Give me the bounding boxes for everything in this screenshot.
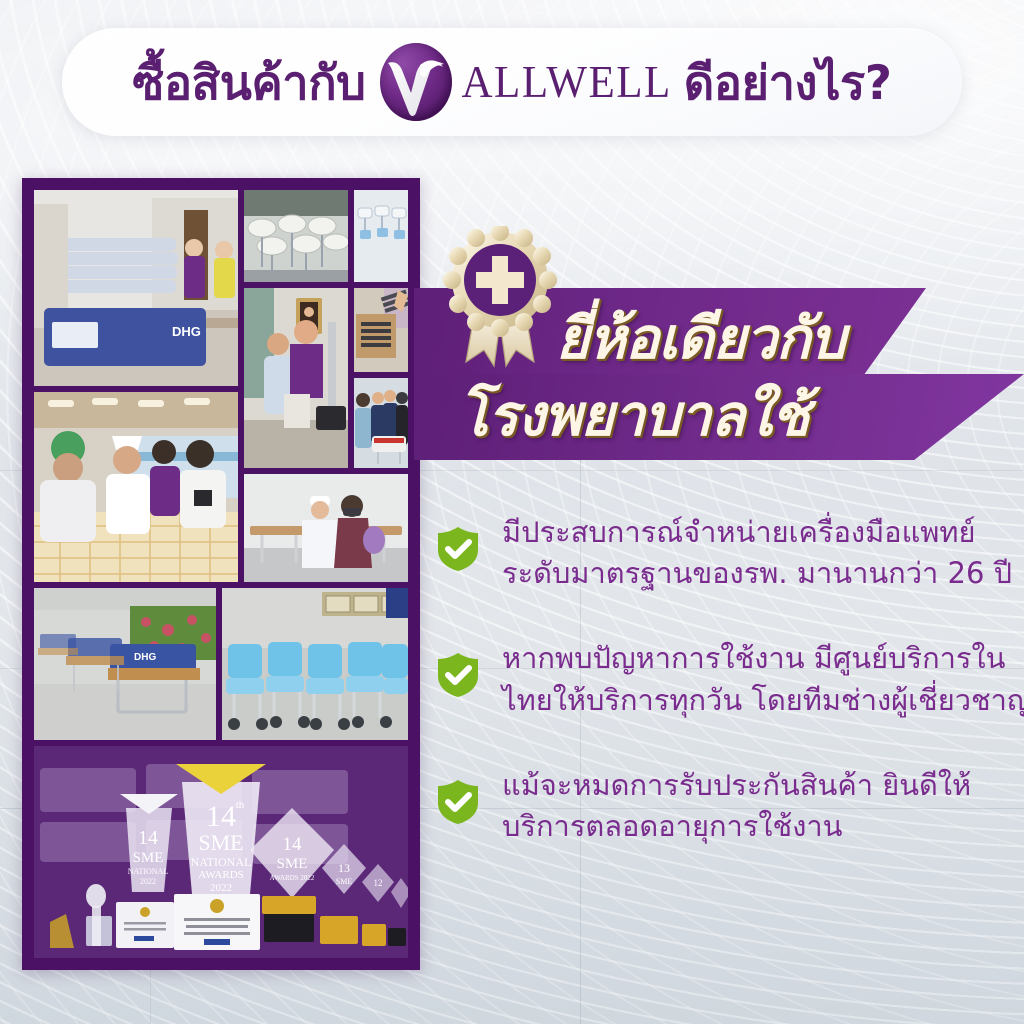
shield-check-icon bbox=[436, 779, 480, 825]
svg-text:DHG: DHG bbox=[134, 652, 156, 663]
svg-text:14: 14 bbox=[138, 827, 158, 849]
photo-bed-row-outdoor: DHG bbox=[34, 588, 216, 740]
logo-w-glyph bbox=[380, 43, 452, 121]
photo-collage: DHG bbox=[22, 178, 420, 970]
svg-text:SME: SME bbox=[336, 877, 353, 886]
photo-nurse-and-visitor bbox=[244, 474, 408, 582]
photo-blue-wheelchairs bbox=[222, 588, 408, 740]
header-banner: ซื้อสินค้ากับ ALLWELL ดีอย่างไร? bbox=[62, 28, 962, 136]
photo-equipment-carts bbox=[244, 190, 348, 282]
shield-check-icon bbox=[436, 652, 480, 698]
photo-scale-demo bbox=[244, 288, 348, 468]
header-text-before: ซื้อสินค้ากับ bbox=[132, 45, 365, 120]
svg-text:SME: SME bbox=[133, 850, 164, 866]
svg-text:14: 14 bbox=[283, 834, 303, 855]
benefit-2-line-1: หากพบปัญหาการใช้งาน มีศูนย์บริการใน bbox=[502, 638, 1016, 679]
banner-line-2: โรงพยาบาลใช้ bbox=[458, 371, 809, 461]
medal-ribbon-cross-icon bbox=[436, 226, 564, 376]
benefits-list: มีประสบการณ์จำหน่ายเครื่องมือแพทย์ ระดับ… bbox=[436, 512, 1016, 891]
benefit-item-3: แม้จะหมดการรับประกันสินค้า ยินดีให้ บริก… bbox=[436, 765, 1016, 847]
benefit-item-2: หากพบปัญหาการใช้งาน มีศูนย์บริการใน ไทยใ… bbox=[436, 638, 1016, 720]
brand-wordmark: ALLWELL bbox=[462, 56, 672, 108]
svg-text:SME: SME bbox=[277, 856, 308, 872]
photo-mattress-delivery: DHG bbox=[34, 190, 238, 386]
benefit-3-line-2: บริการตลอดอายุการใช้งาน bbox=[502, 806, 1016, 847]
benefit-1-line-1: มีประสบการณ์จำหน่ายเครื่องมือแพทย์ bbox=[502, 512, 1016, 553]
headline-banner: ยี่ห้อเดียวกับ โรงพยาบาลใช้ bbox=[414, 288, 1024, 460]
benefit-3-line-1: แม้จะหมดการรับประกันสินค้า ยินดีให้ bbox=[502, 765, 1016, 806]
collage-grid: DHG bbox=[34, 190, 408, 958]
svg-text:NATIONAL: NATIONAL bbox=[191, 855, 252, 869]
shield-check-icon bbox=[436, 526, 480, 572]
svg-text:14: 14 bbox=[206, 800, 236, 833]
header-text-after: ดีอย่างไร? bbox=[684, 45, 892, 120]
svg-text:DHG: DHG bbox=[172, 324, 201, 339]
benefit-2-line-2: ไทยให้บริการทุกวัน โดยทีมช่างผู้เชี่ยวชา… bbox=[502, 680, 1016, 721]
poster-canvas: ซื้อสินค้ากับ ALLWELL ดีอย่างไร? bbox=[0, 0, 1024, 1024]
svg-text:th: th bbox=[236, 799, 245, 811]
photo-unboxing-parts bbox=[354, 288, 408, 372]
svg-text:2022: 2022 bbox=[210, 882, 232, 894]
svg-text:NATIONAL: NATIONAL bbox=[128, 867, 169, 876]
photo-training-session bbox=[354, 378, 408, 468]
svg-text:AWARDS 2022: AWARDS 2022 bbox=[270, 874, 315, 882]
photo-nurses-inspection bbox=[34, 392, 238, 582]
svg-text:2022: 2022 bbox=[140, 877, 156, 886]
svg-text:12: 12 bbox=[374, 878, 383, 888]
benefit-item-1: มีประสบการณ์จำหน่ายเครื่องมือแพทย์ ระดับ… bbox=[436, 512, 1016, 594]
photo-awards-trophies: 14 th SME NATIONAL AWARDS 2022 14 SME NA… bbox=[34, 746, 408, 958]
svg-text:AWARDS: AWARDS bbox=[198, 869, 244, 881]
benefit-1-line-2: ระดับมาตรฐานของรพ. มานานกว่า 26 ปี bbox=[502, 553, 1016, 594]
svg-text:SME: SME bbox=[198, 830, 243, 855]
photo-wall-mount-units bbox=[354, 190, 408, 282]
allwell-w-logo-icon bbox=[380, 43, 452, 121]
svg-text:13: 13 bbox=[338, 861, 350, 875]
